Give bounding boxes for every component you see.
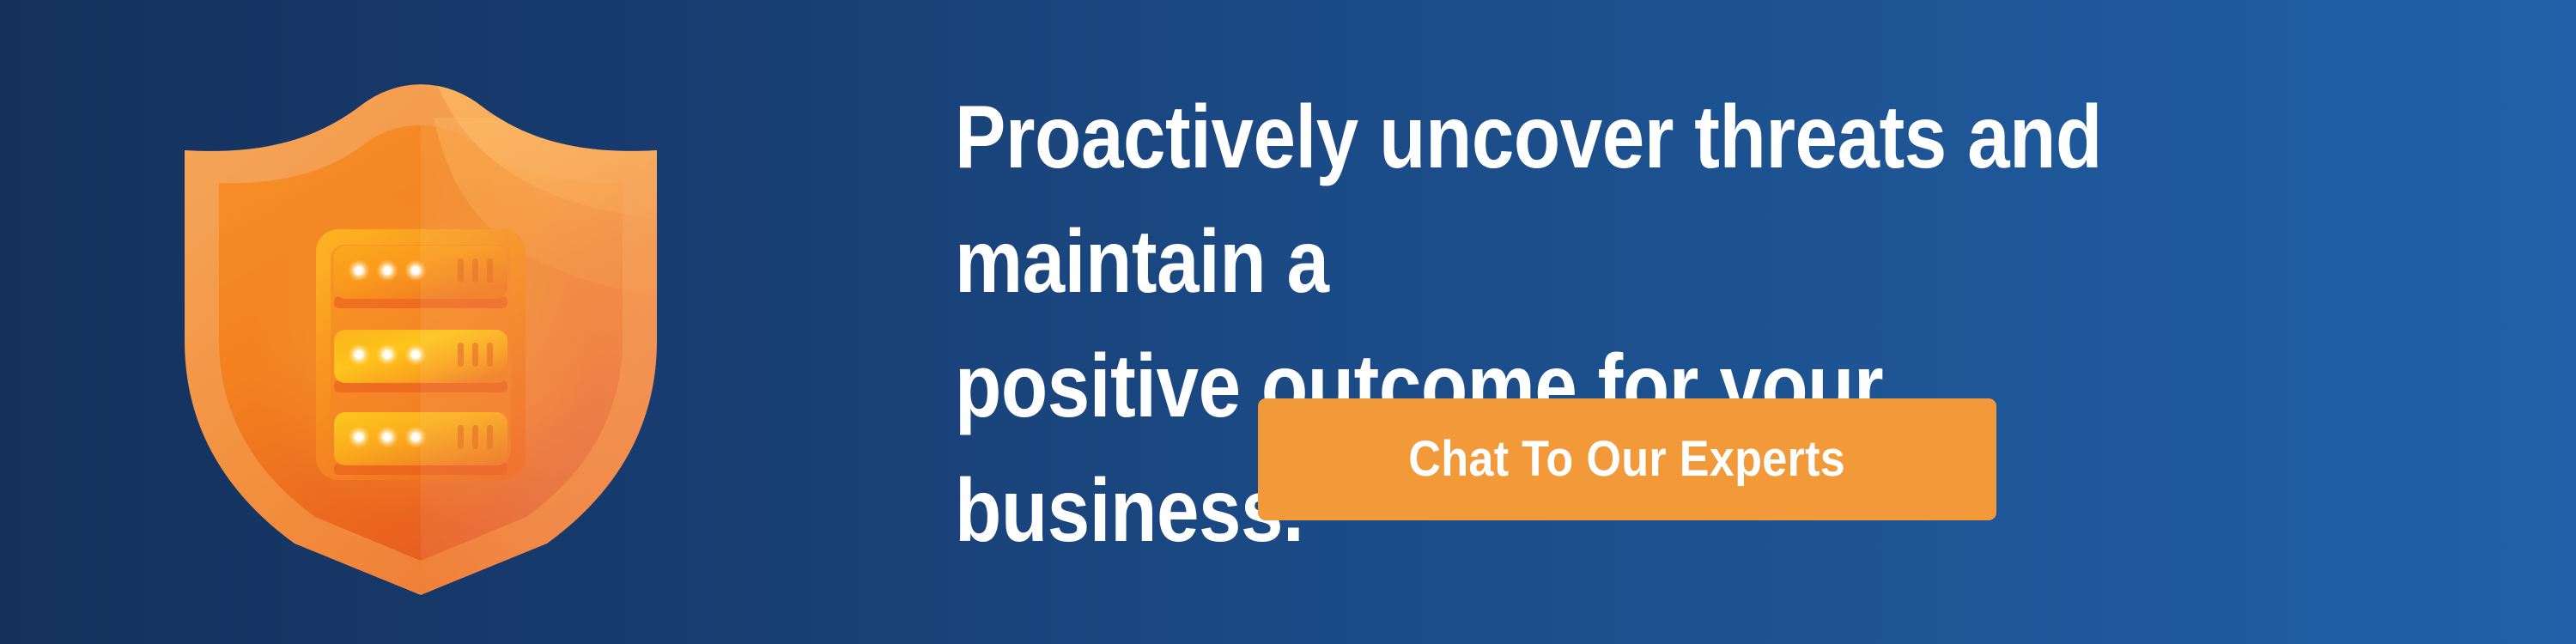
rack-unit-3-led-1 bbox=[348, 426, 370, 448]
rack-unit-2-led-2 bbox=[376, 343, 398, 366]
rack-unit-3-led-2 bbox=[376, 426, 398, 448]
chat-to-our-experts-button[interactable]: Chat To Our Experts bbox=[1258, 398, 1996, 520]
rack-unit-1-led-2 bbox=[376, 259, 398, 282]
rack-unit-2-led-1 bbox=[348, 343, 370, 366]
server-shield-icon bbox=[176, 39, 665, 601]
rack-unit-1-led-1 bbox=[348, 259, 370, 282]
cta-banner: Proactively uncover threats and maintain… bbox=[0, 0, 2576, 644]
chat-to-our-experts-button-label: Chat To Our Experts bbox=[1409, 434, 1846, 484]
